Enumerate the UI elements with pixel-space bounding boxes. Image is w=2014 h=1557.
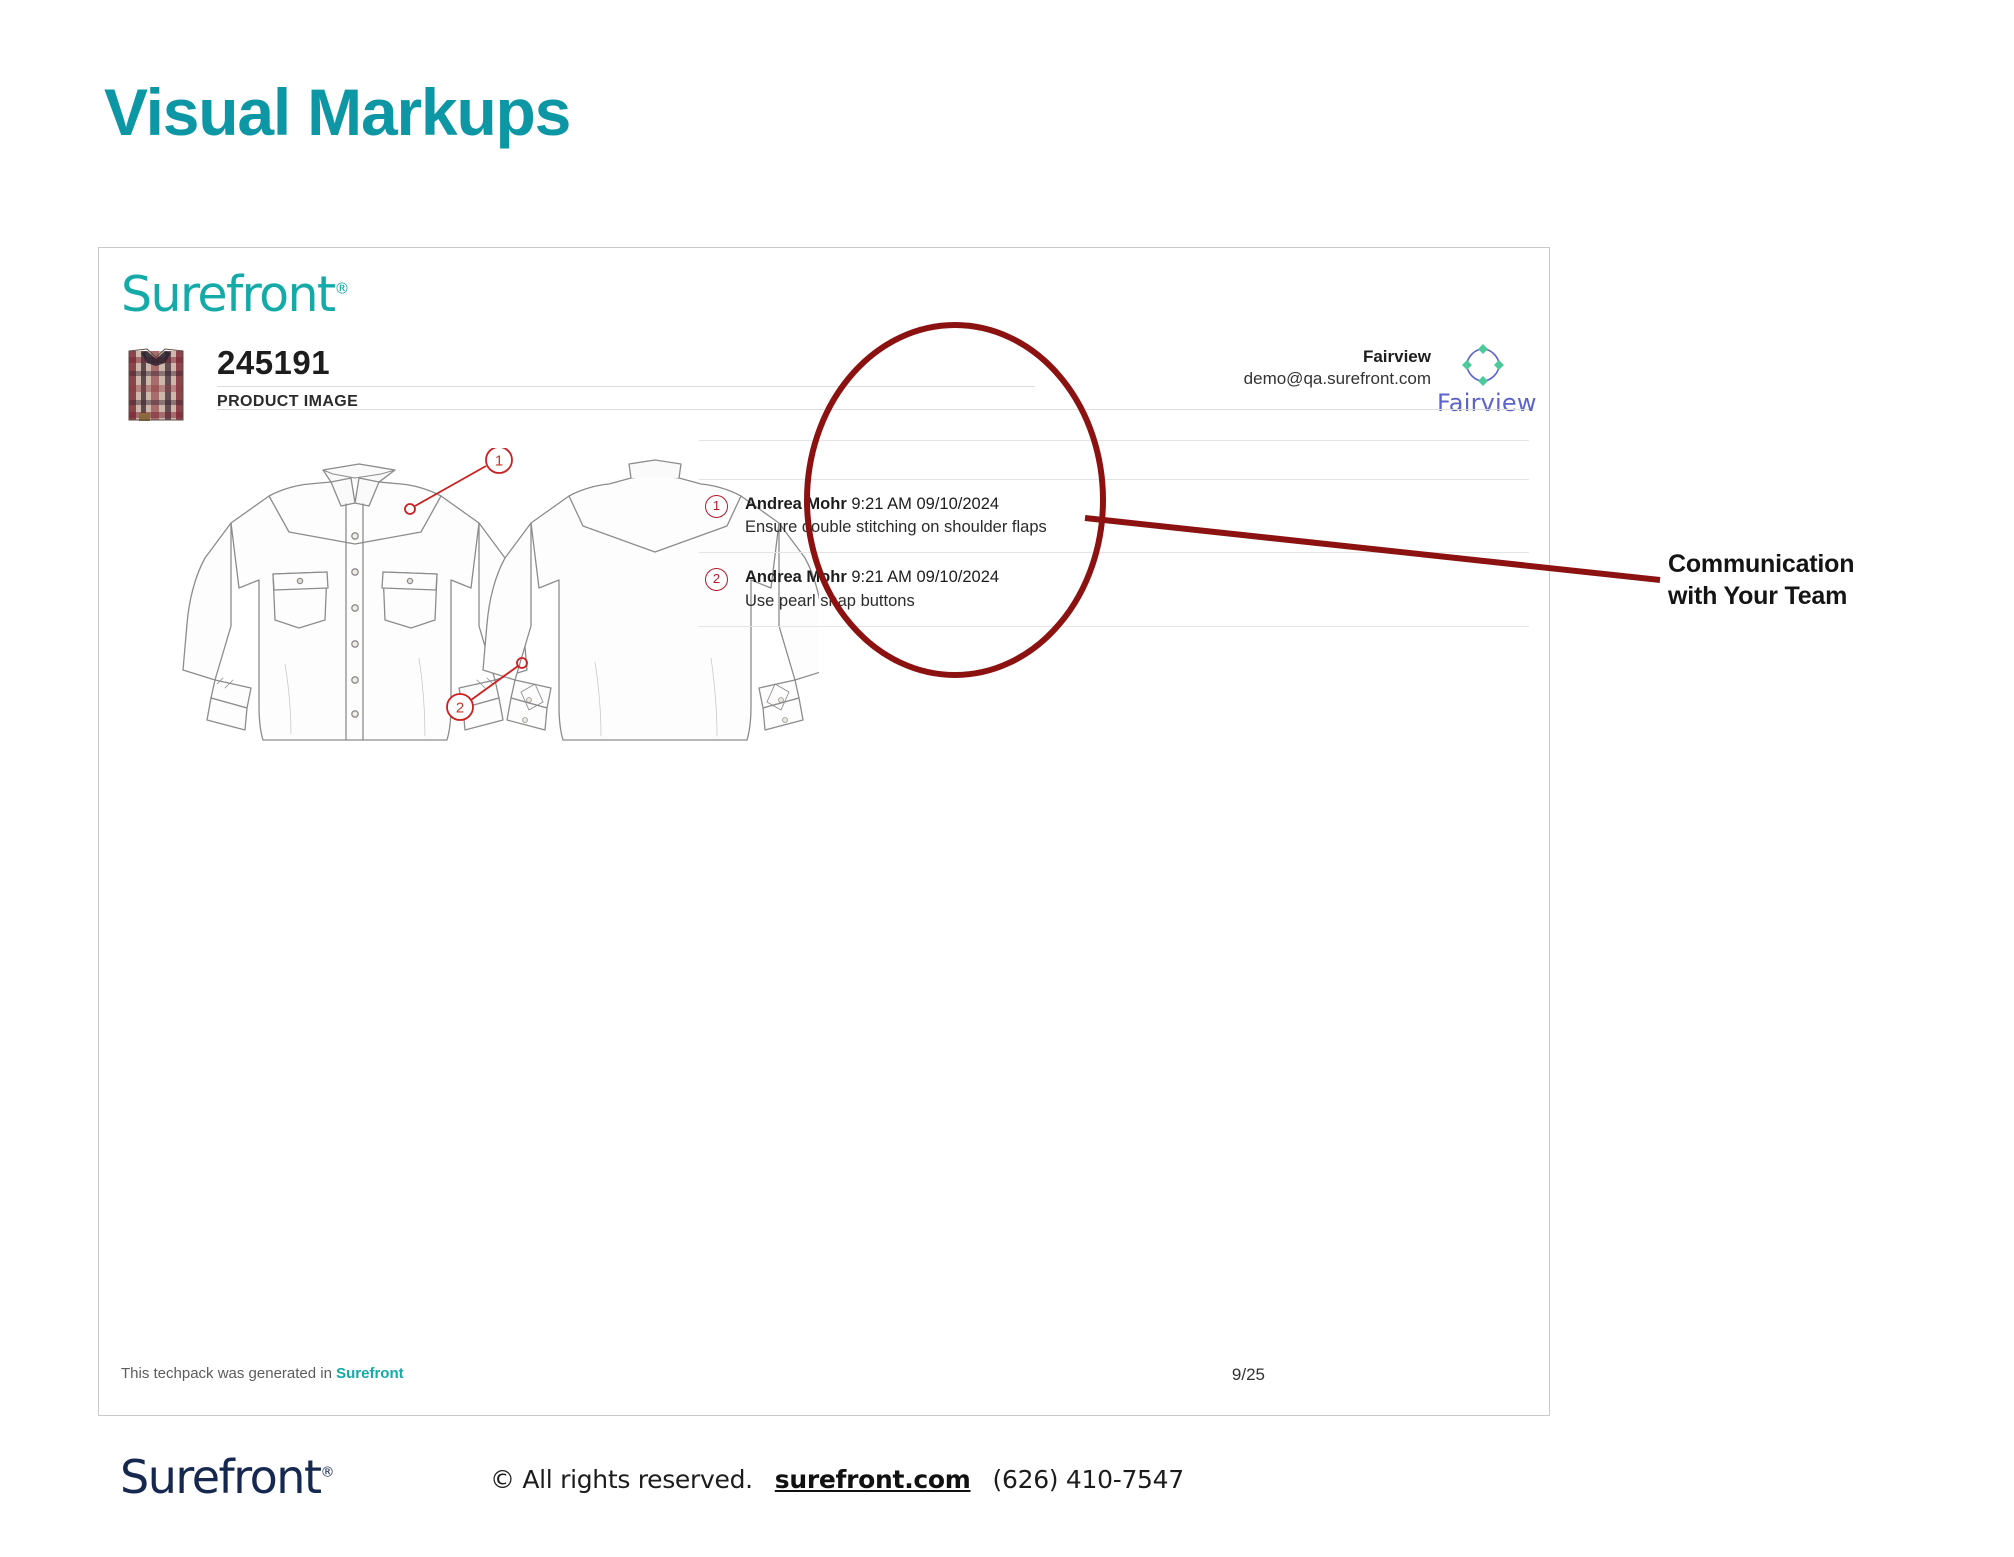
website-link[interactable]: surefront.com xyxy=(775,1465,971,1494)
comment-row[interactable]: 2 Andrea Mohr 9:21 AM 09/10/2024 Use pea… xyxy=(699,552,1529,626)
slide-footer-meta: © All rights reserved.surefront.com(626)… xyxy=(490,1465,1184,1494)
product-divider xyxy=(217,386,1035,387)
marker-1-leader xyxy=(415,466,486,506)
page-number: 9/25 xyxy=(1232,1365,1265,1385)
comment-badge: 2 xyxy=(705,568,728,591)
surefront-logo-text: Surefront xyxy=(121,266,335,323)
comment-timestamp: 9:21 AM 09/10/2024 xyxy=(851,568,999,586)
header-divider xyxy=(217,409,1529,410)
comment-row[interactable]: 1 Andrea Mohr 9:21 AM 09/10/2024 Ensure … xyxy=(699,479,1529,552)
comment-author: Andrea Mohr xyxy=(745,568,847,586)
fairview-logo: Fairview xyxy=(1437,342,1529,417)
comment-text: Use pearl snap buttons xyxy=(745,590,1529,613)
comments-top-spacer xyxy=(699,440,1529,479)
plaid-shirt-thumbnail-icon xyxy=(121,347,191,424)
footer-trademark-symbol: ® xyxy=(321,1465,335,1481)
surefront-footer-logo: Surefront® xyxy=(120,1450,335,1504)
marker-1-label: 1 xyxy=(495,453,503,470)
techpack-footer-brand: Surefront xyxy=(336,1365,404,1382)
techpack-footer-note-prefix: This techpack was generated in xyxy=(121,1365,336,1382)
techpack-footer: This techpack was generated in Surefront… xyxy=(121,1365,1529,1389)
marker-2-label: 2 xyxy=(456,700,464,717)
comment-timestamp: 9:21 AM 09/10/2024 xyxy=(851,495,999,513)
product-title-block: 245191 PRODUCT IMAGE xyxy=(217,344,1035,411)
comment-text: Ensure double stitching on shoulder flap… xyxy=(745,516,1529,539)
product-thumbnail xyxy=(121,347,191,424)
product-header: 245191 PRODUCT IMAGE Fairview demo@qa.su… xyxy=(121,344,1529,424)
brand-name: Fairview xyxy=(1244,346,1431,368)
shirt-front-view xyxy=(183,464,527,740)
surefront-footer-logo-text: Surefront xyxy=(120,1450,321,1504)
comment-meta: Andrea Mohr 9:21 AM 09/10/2024 xyxy=(745,566,1529,588)
callout-text-line-2: with Your Team xyxy=(1668,580,1854,612)
page-title: Visual Markups xyxy=(104,78,570,147)
comments-panel: 1 Andrea Mohr 9:21 AM 09/10/2024 Ensure … xyxy=(699,440,1529,627)
fairview-diamond-icon xyxy=(1458,342,1508,386)
techpack-footer-note: This techpack was generated in Surefront xyxy=(121,1365,404,1382)
comment-badge: 1 xyxy=(705,495,728,518)
surefront-logo: Surefront® xyxy=(121,266,350,323)
comment-meta: Andrea Mohr 9:21 AM 09/10/2024 xyxy=(745,493,1529,515)
trademark-symbol: ® xyxy=(335,280,350,298)
rights-text: © All rights reserved. xyxy=(490,1465,753,1494)
product-number: 245191 xyxy=(217,344,1035,382)
slide-footer: Surefront® © All rights reserved.surefro… xyxy=(0,1448,2014,1538)
callout-text-line-1: Communication xyxy=(1668,548,1854,580)
brand-email: demo@qa.surefront.com xyxy=(1244,368,1431,390)
comment-author: Andrea Mohr xyxy=(745,495,847,513)
techpack-page-card: Surefront® xyxy=(98,247,1550,1416)
callout-text: Communication with Your Team xyxy=(1668,548,1854,612)
brand-info: Fairview demo@qa.surefront.com xyxy=(1244,346,1431,390)
fairview-logo-text: Fairview xyxy=(1437,389,1529,417)
phone-number: (626) 410-7547 xyxy=(993,1465,1184,1494)
